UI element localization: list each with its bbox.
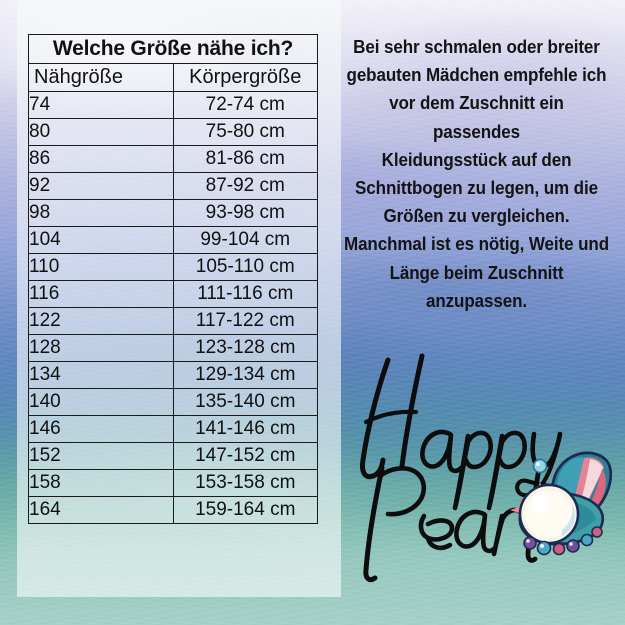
cell-sewing-size: 92 [29, 173, 174, 200]
table-row: 110 105-110 cm [29, 254, 318, 281]
column-header-sewing-size: Nähgröße [29, 64, 174, 92]
cell-body-height: 129-134 cm [173, 362, 318, 389]
cell-body-height: 72-74 cm [173, 92, 318, 119]
table-row: 140 135-140 cm [29, 389, 318, 416]
note-line: vor dem Zuschnitt ein passendes [344, 89, 609, 145]
cell-body-height: 87-92 cm [173, 173, 318, 200]
cell-body-height: 105-110 cm [173, 254, 318, 281]
cell-body-height: 93-98 cm [173, 200, 318, 227]
cell-body-height: 141-146 cm [173, 416, 318, 443]
cell-body-height: 99-104 cm [173, 227, 318, 254]
table-row: 74 72-74 cm [29, 92, 318, 119]
table-title: Welche Größe nähe ich? [29, 35, 318, 64]
table-row: 104 99-104 cm [29, 227, 318, 254]
column-header-body-height: Körpergröße [173, 64, 318, 92]
cell-sewing-size: 98 [29, 200, 174, 227]
table-title-row: Welche Größe nähe ich? [29, 35, 318, 64]
poster-canvas: Welche Größe nähe ich? Nähgröße Körpergr… [0, 0, 625, 625]
cell-sewing-size: 128 [29, 335, 174, 362]
note-line: Kleidungsstück auf den [344, 146, 609, 174]
cell-sewing-size: 158 [29, 470, 174, 497]
table-row: 92 87-92 cm [29, 173, 318, 200]
note-line: gebauten Mädchen empfehle ich [344, 61, 609, 89]
cell-body-height: 159-164 cm [173, 497, 318, 524]
table-row: 80 75-80 cm [29, 119, 318, 146]
table-row: 98 93-98 cm [29, 200, 318, 227]
table-row: 86 81-86 cm [29, 146, 318, 173]
cell-sewing-size: 146 [29, 416, 174, 443]
brand-logo [344, 348, 612, 586]
table-row: 158 153-158 cm [29, 470, 318, 497]
oyster-pearl-icon [510, 453, 611, 555]
cell-body-height: 153-158 cm [173, 470, 318, 497]
note-line: Länge beim Zuschnitt anzupassen. [344, 259, 609, 315]
table-row: 134 129-134 cm [29, 362, 318, 389]
table-row: 152 147-152 cm [29, 443, 318, 470]
size-chart-table: Welche Größe nähe ich? Nähgröße Körpergr… [28, 34, 318, 524]
cell-sewing-size: 152 [29, 443, 174, 470]
note-line: Schnittbogen zu legen, um die [344, 174, 609, 202]
cell-sewing-size: 164 [29, 497, 174, 524]
cell-body-height: 147-152 cm [173, 443, 318, 470]
table-body: 74 72-74 cm 80 75-80 cm 86 81-86 cm 92 8… [29, 92, 318, 524]
table-row: 116 111-116 cm [29, 281, 318, 308]
cell-sewing-size: 104 [29, 227, 174, 254]
cell-body-height: 117-122 cm [173, 308, 318, 335]
logo-wordmark-pearl [366, 462, 540, 580]
cell-sewing-size: 140 [29, 389, 174, 416]
note-line: Bei sehr schmalen oder breiter [344, 33, 609, 61]
note-line: Manchmal ist es nötig, Weite und [344, 230, 609, 258]
note-line: Größen zu vergleichen. [344, 202, 609, 230]
instruction-note: Bei sehr schmalen oder breiter gebauten … [344, 33, 609, 315]
table-row: 128 123-128 cm [29, 335, 318, 362]
cell-sewing-size: 122 [29, 308, 174, 335]
table-row: 146 141-146 cm [29, 416, 318, 443]
cell-body-height: 81-86 cm [173, 146, 318, 173]
cell-sewing-size: 74 [29, 92, 174, 119]
cell-body-height: 75-80 cm [173, 119, 318, 146]
pearl [520, 485, 578, 543]
cell-sewing-size: 110 [29, 254, 174, 281]
cell-body-height: 135-140 cm [173, 389, 318, 416]
table-row: 164 159-164 cm [29, 497, 318, 524]
cell-sewing-size: 80 [29, 119, 174, 146]
cell-sewing-size: 86 [29, 146, 174, 173]
cell-sewing-size: 116 [29, 281, 174, 308]
cell-body-height: 123-128 cm [173, 335, 318, 362]
table-header-row: Nähgröße Körpergröße [29, 64, 318, 92]
cell-body-height: 111-116 cm [173, 281, 318, 308]
table-row: 122 117-122 cm [29, 308, 318, 335]
cell-sewing-size: 134 [29, 362, 174, 389]
